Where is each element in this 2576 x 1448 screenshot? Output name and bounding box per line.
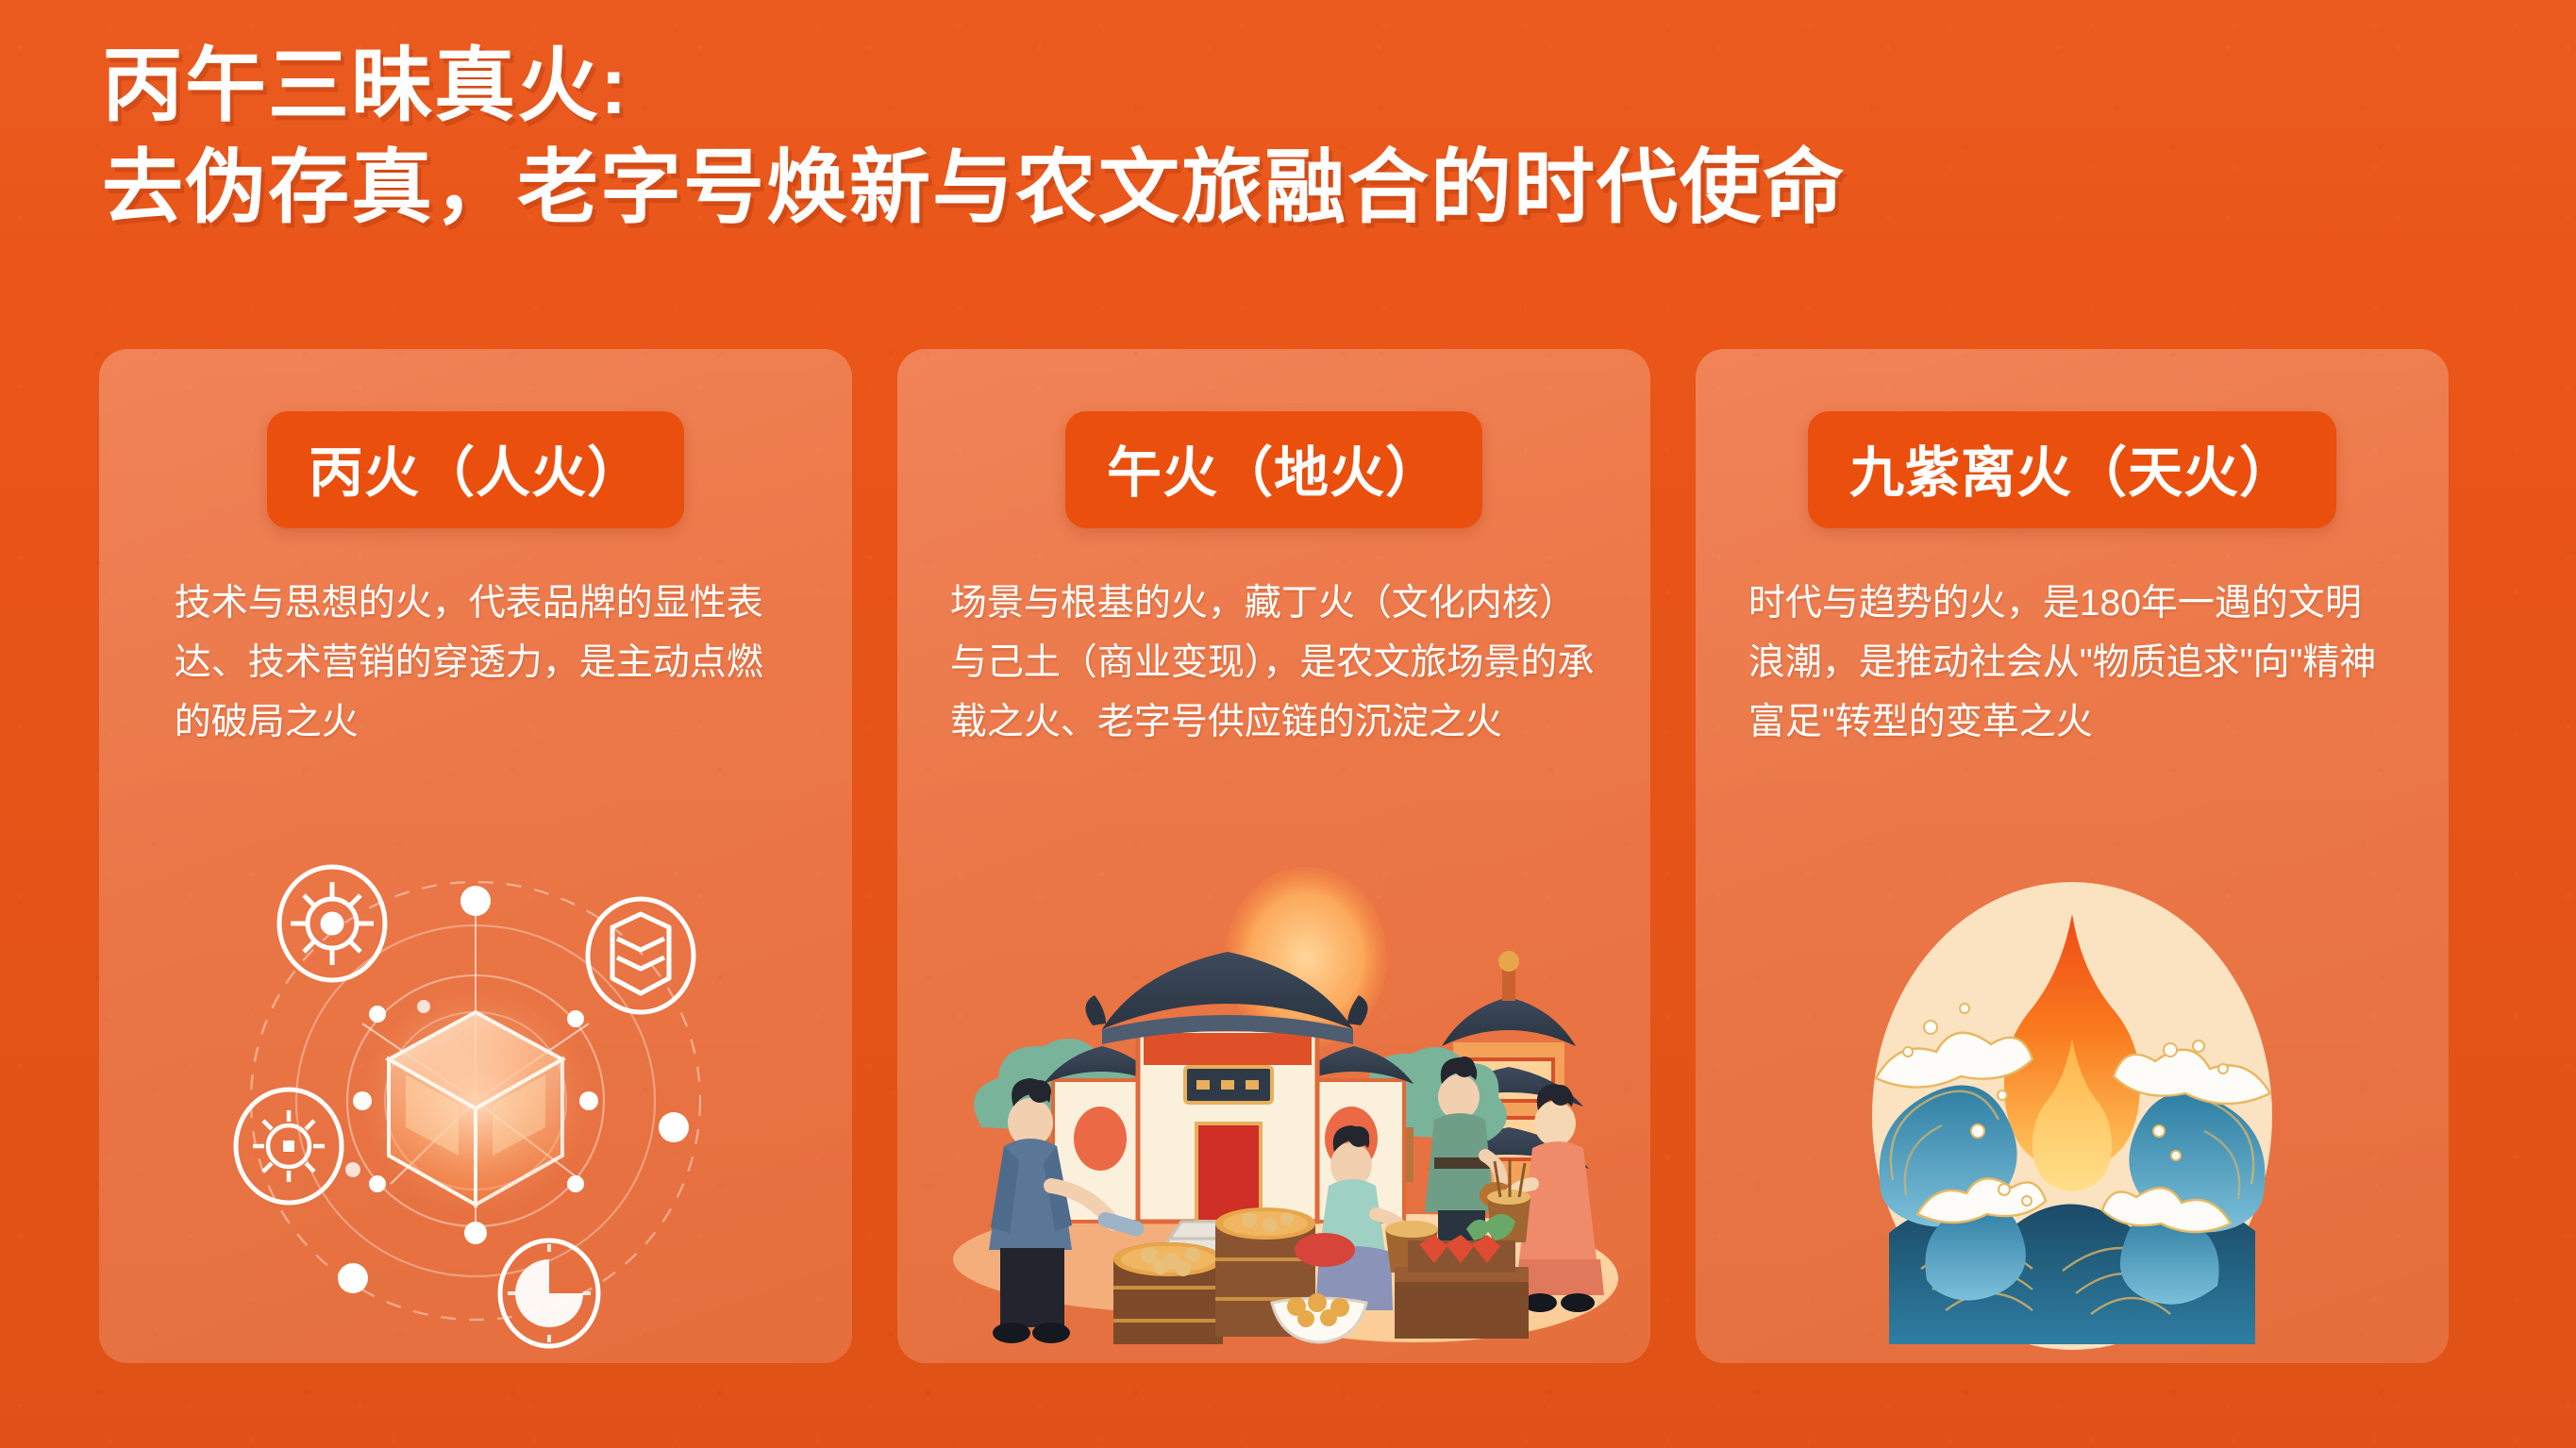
tech-cube-orbit-illustration xyxy=(99,816,852,1354)
sun-icon xyxy=(236,1090,342,1203)
page-title-line-2: 去伪存真，老字号焕新与农文旅融合的时代使命 xyxy=(102,141,2367,236)
page-title: 丙午三昧真火: 去伪存真，老字号焕新与农文旅融合的时代使命 xyxy=(102,40,2367,236)
card-body-jiuzi-fire: 时代与趋势的火，是180年一遇的文明浪潮，是推动社会从"物质追求"向"精神富足"… xyxy=(1748,574,2396,753)
barrel-icon xyxy=(1113,1242,1223,1344)
card-body-wu-fire: 场景与根基的火，藏丁火（文化内核）与己土（商业变现），是农文旅场景的承载之火、老… xyxy=(950,574,1597,753)
flame-over-waves-illustration xyxy=(1696,816,2449,1354)
database-layers-icon xyxy=(588,899,694,1012)
card-badge-jiuzi-fire: 九紫离火（天火） xyxy=(1808,411,2336,528)
pie-chart-icon xyxy=(500,1240,598,1346)
card-wu-fire[interactable]: 午火（地火） 场景与根基的火，藏丁火（文化内核）与己土（商业变现），是农文旅场景… xyxy=(897,349,1650,1363)
card-bing-fire[interactable]: 丙火（人火） 技术与思想的火，代表品牌的显性表达、技术营销的穿透力，是主动点燃的… xyxy=(99,349,852,1363)
page-title-line-1: 丙午三昧真火: xyxy=(102,40,2367,134)
three-fires-card-row: 丙火（人火） 技术与思想的火，代表品牌的显性表达、技术营销的穿透力，是主动点燃的… xyxy=(99,349,2449,1363)
gear-icon xyxy=(279,867,385,980)
card-badge-bing-fire: 丙火（人火） xyxy=(267,411,684,528)
chinese-village-market-illustration xyxy=(897,816,1650,1354)
card-jiuzi-fire[interactable]: 九紫离火（天火） 时代与趋势的火，是180年一遇的文明浪潮，是推动社会从"物质追… xyxy=(1696,349,2449,1363)
card-badge-wu-fire: 午火（地火） xyxy=(1065,411,1482,528)
card-body-bing-fire: 技术与思想的火，代表品牌的显性表达、技术营销的穿透力，是主动点燃的破局之火 xyxy=(175,574,777,753)
